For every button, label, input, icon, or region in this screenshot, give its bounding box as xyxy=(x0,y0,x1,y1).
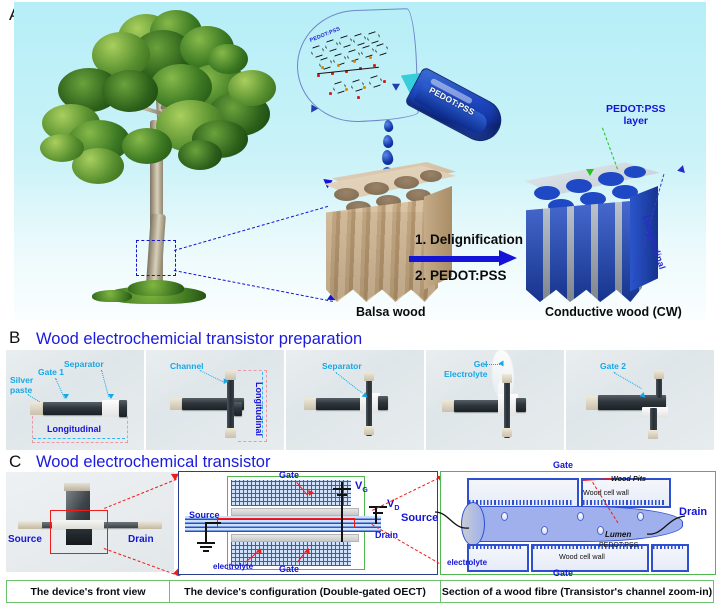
wood-pit-1 xyxy=(501,512,508,521)
gate-pad-top xyxy=(231,480,351,506)
ground-bar-2 xyxy=(200,546,212,548)
panel-c-letter: C xyxy=(9,452,21,472)
photo-zoom-region-box xyxy=(50,510,108,554)
caption-bar: The device's front view The device's con… xyxy=(6,580,714,603)
label-gate-fibre-bottom: Gate xyxy=(553,568,573,578)
label-wood-pits: Wood Pits xyxy=(611,474,646,483)
ground-wire xyxy=(205,524,207,542)
drain-leader-curve xyxy=(647,512,687,538)
wood-pit-3 xyxy=(577,512,584,521)
panel-b-photo-5: Gate 2 xyxy=(566,350,714,450)
vg-plate-2 xyxy=(337,494,347,496)
process-arrow xyxy=(409,254,517,263)
device-configuration-diagram: VG VD Drain Source Gate Gate electrolyte xyxy=(178,471,438,575)
label-lumen: Lumen xyxy=(605,530,631,539)
label-longitudinal-1: Longitudinal xyxy=(47,424,101,434)
droplet-2 xyxy=(382,134,394,148)
label-gate-fibre-top: Gate xyxy=(553,460,573,470)
device-front-view-photo: Source Drain xyxy=(6,472,174,572)
panel-b-photo-2: Channel Longitudinal xyxy=(146,350,284,450)
pedot-layer-line1: PEDOT:PSS xyxy=(606,103,666,115)
label-pedot-pss-fibre: PEDOT:PSS xyxy=(599,542,638,549)
wood-pit-5 xyxy=(637,512,644,521)
separator-top xyxy=(231,508,359,516)
source-leader-curve xyxy=(435,508,475,536)
caption-front-view: The device's front view xyxy=(6,580,170,603)
conductive-wood-block xyxy=(524,160,660,310)
caption-configuration: The device's configuration (Double-gated… xyxy=(169,580,441,603)
label-gate-top: Gate xyxy=(279,470,299,480)
label-gate-2: Gate 2 xyxy=(600,362,626,372)
label-wood-cell-wall-bottom: Wood cell wall xyxy=(559,552,605,561)
tree-trunk-callout-box xyxy=(136,240,176,276)
wood-pit-2 xyxy=(541,526,548,535)
label-longitudinal-2: Longitudinal xyxy=(254,382,264,436)
label-silver-paste: Silver paste xyxy=(10,376,33,396)
pedot-pss-flask xyxy=(384,57,509,159)
label-gel-electrolyte: Gel Electrolyte xyxy=(444,360,487,380)
ground-bar-3 xyxy=(203,550,209,552)
label-source-fibre: Source xyxy=(401,512,438,524)
panel-a-illustration: PEDOT:PSS xyxy=(14,2,706,320)
label-gate-bottom: Gate xyxy=(279,564,299,574)
panel-c-title: Wood electrochemical transistor xyxy=(36,453,270,472)
process-step-1: 1. Delignification xyxy=(415,232,523,247)
wood-pit-4 xyxy=(597,526,604,535)
vg-plate-1 xyxy=(333,488,351,490)
label-source-diagram: Source xyxy=(189,510,220,520)
vg-wire-vertical xyxy=(341,482,343,542)
balsa-wood-caption: Balsa wood xyxy=(356,305,425,319)
caption-fibre-section: Section of a wood fibre (Transistor's ch… xyxy=(440,580,714,603)
label-separator: Separator xyxy=(64,360,104,370)
panel-b-title: Wood electrochemicial transistor prepara… xyxy=(36,330,362,349)
panel-b-photo-1: Silver paste Gate 1 Separator Longitudin… xyxy=(6,350,144,450)
label-source-photo: Source xyxy=(8,534,42,545)
vd-plate-2 xyxy=(373,512,383,514)
process-step-2: 2. PEDOT:PSS xyxy=(415,268,507,283)
label-electrolyte-fibre: electrolyte xyxy=(447,558,487,567)
pedot-layer-arrowhead xyxy=(586,169,594,176)
pedot-layer-label: PEDOT:PSS layer xyxy=(606,103,666,127)
label-gate-1: Gate 1 xyxy=(38,368,64,378)
label-wood-cell-wall-top: Wood cell wall xyxy=(583,488,629,497)
channel-highlight xyxy=(217,518,355,528)
label-drain-photo: Drain xyxy=(128,534,154,545)
panel-b-photo-4: Gel Electrolyte xyxy=(426,350,564,450)
ground-bar-1 xyxy=(197,542,215,544)
panel-b-photo-3: Separator xyxy=(286,350,424,450)
figure-root: A xyxy=(0,0,720,606)
label-vg: VG xyxy=(355,480,368,494)
label-separator-3: Separator xyxy=(322,362,362,372)
balsa-tree-illustration xyxy=(32,8,322,304)
separator-bottom xyxy=(231,534,359,542)
conductive-wood-caption: Conductive wood (CW) xyxy=(545,305,682,319)
cw-longitudinal-arrowhead xyxy=(677,164,687,173)
pedot-layer-line2: layer xyxy=(623,115,648,127)
ground-stub xyxy=(205,522,221,524)
label-electrolyte-diagram: electrolyte xyxy=(213,562,253,571)
panel-b-letter: B xyxy=(9,328,20,348)
wood-fibre-section-diagram: Gate Wood Pits Wood cell wall Wood cell … xyxy=(440,471,716,575)
